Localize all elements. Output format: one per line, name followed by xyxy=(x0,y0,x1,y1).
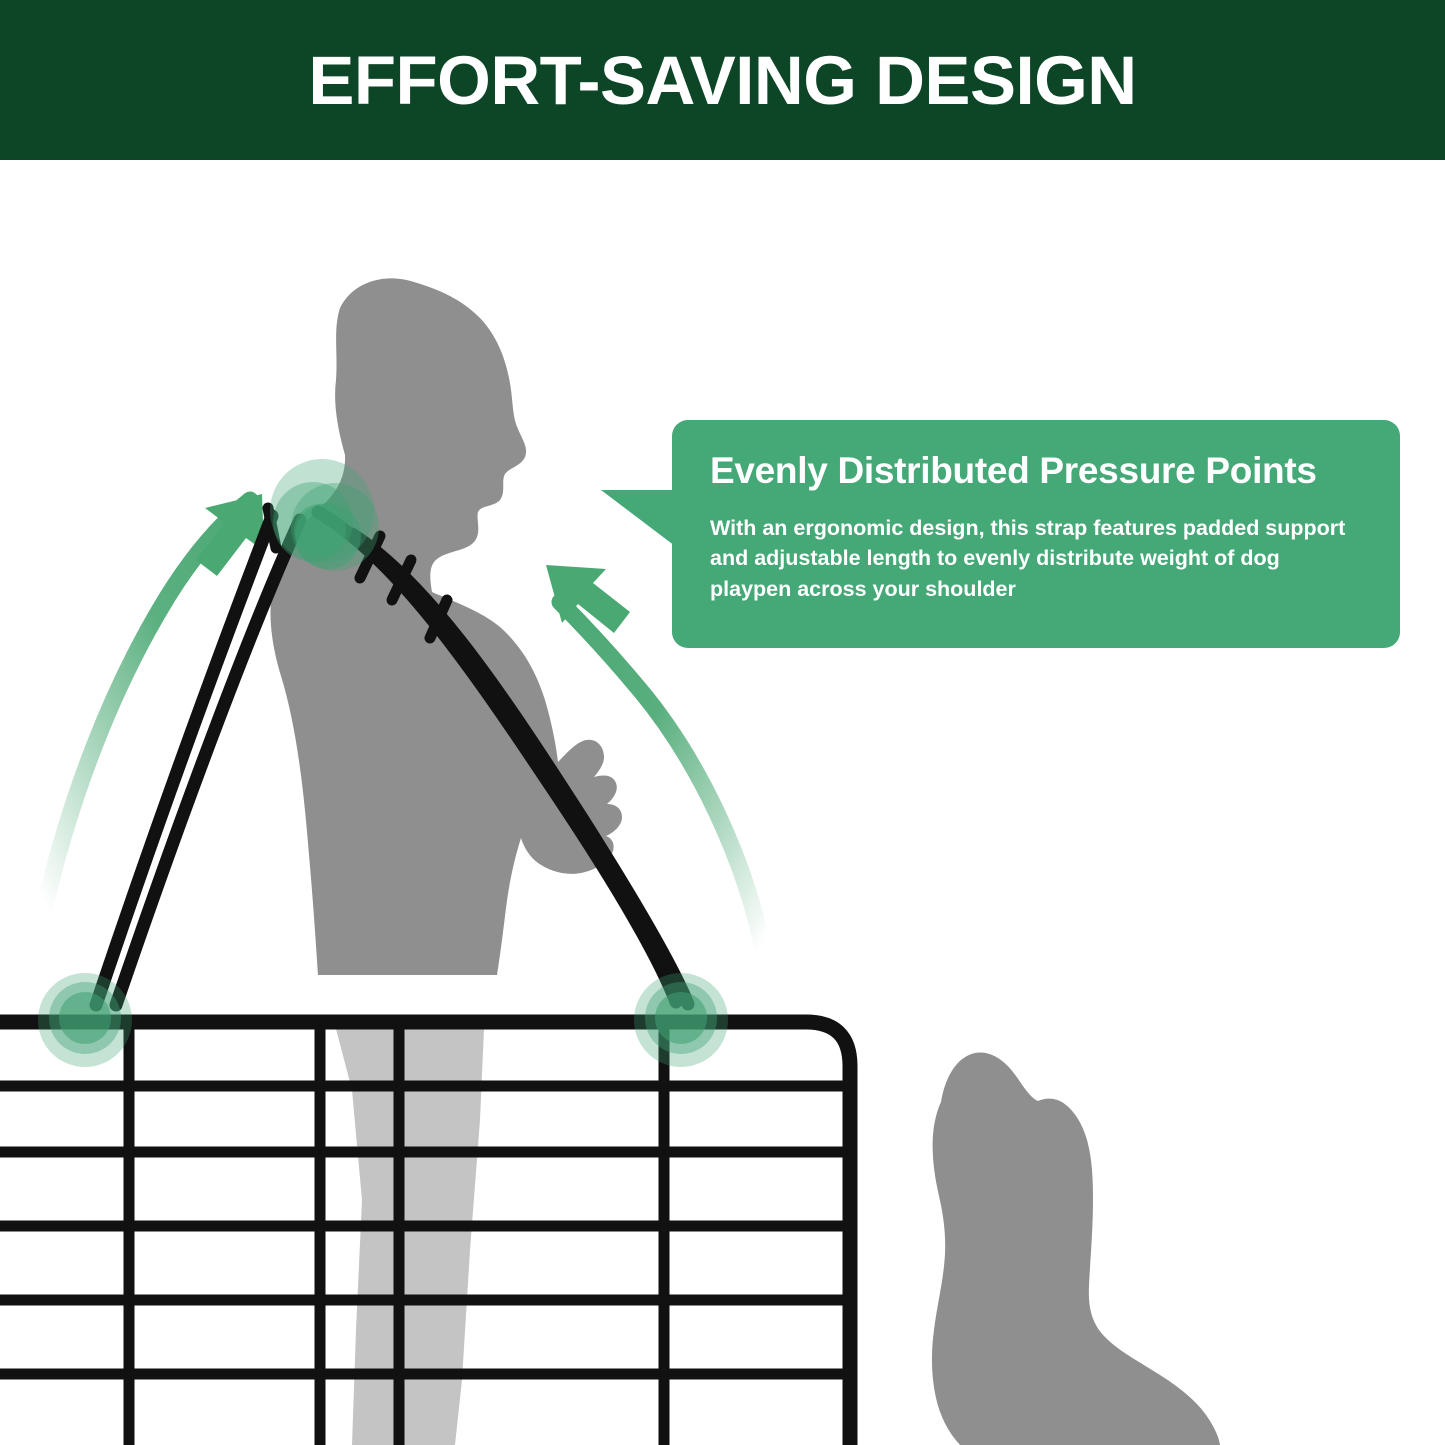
callout-heading: Evenly Distributed Pressure Points xyxy=(710,452,1366,491)
callout-box: Evenly Distributed Pressure Points With … xyxy=(672,420,1400,648)
callout-pointer-icon xyxy=(601,490,675,546)
dog-silhouette xyxy=(932,1052,1220,1445)
callout-body-text: With an ergonomic design, this strap fea… xyxy=(710,513,1350,605)
illustration-artwork xyxy=(0,0,1445,1445)
strap-left-inner xyxy=(116,520,300,1005)
strap-left-outer xyxy=(96,516,272,1005)
dog-body xyxy=(932,1052,1220,1445)
pressure-point-playpen-left xyxy=(38,973,132,1067)
infographic-page: EFFORT-SAVING DESIGN xyxy=(0,0,1445,1445)
pressure-point-playpen-right xyxy=(634,973,728,1067)
